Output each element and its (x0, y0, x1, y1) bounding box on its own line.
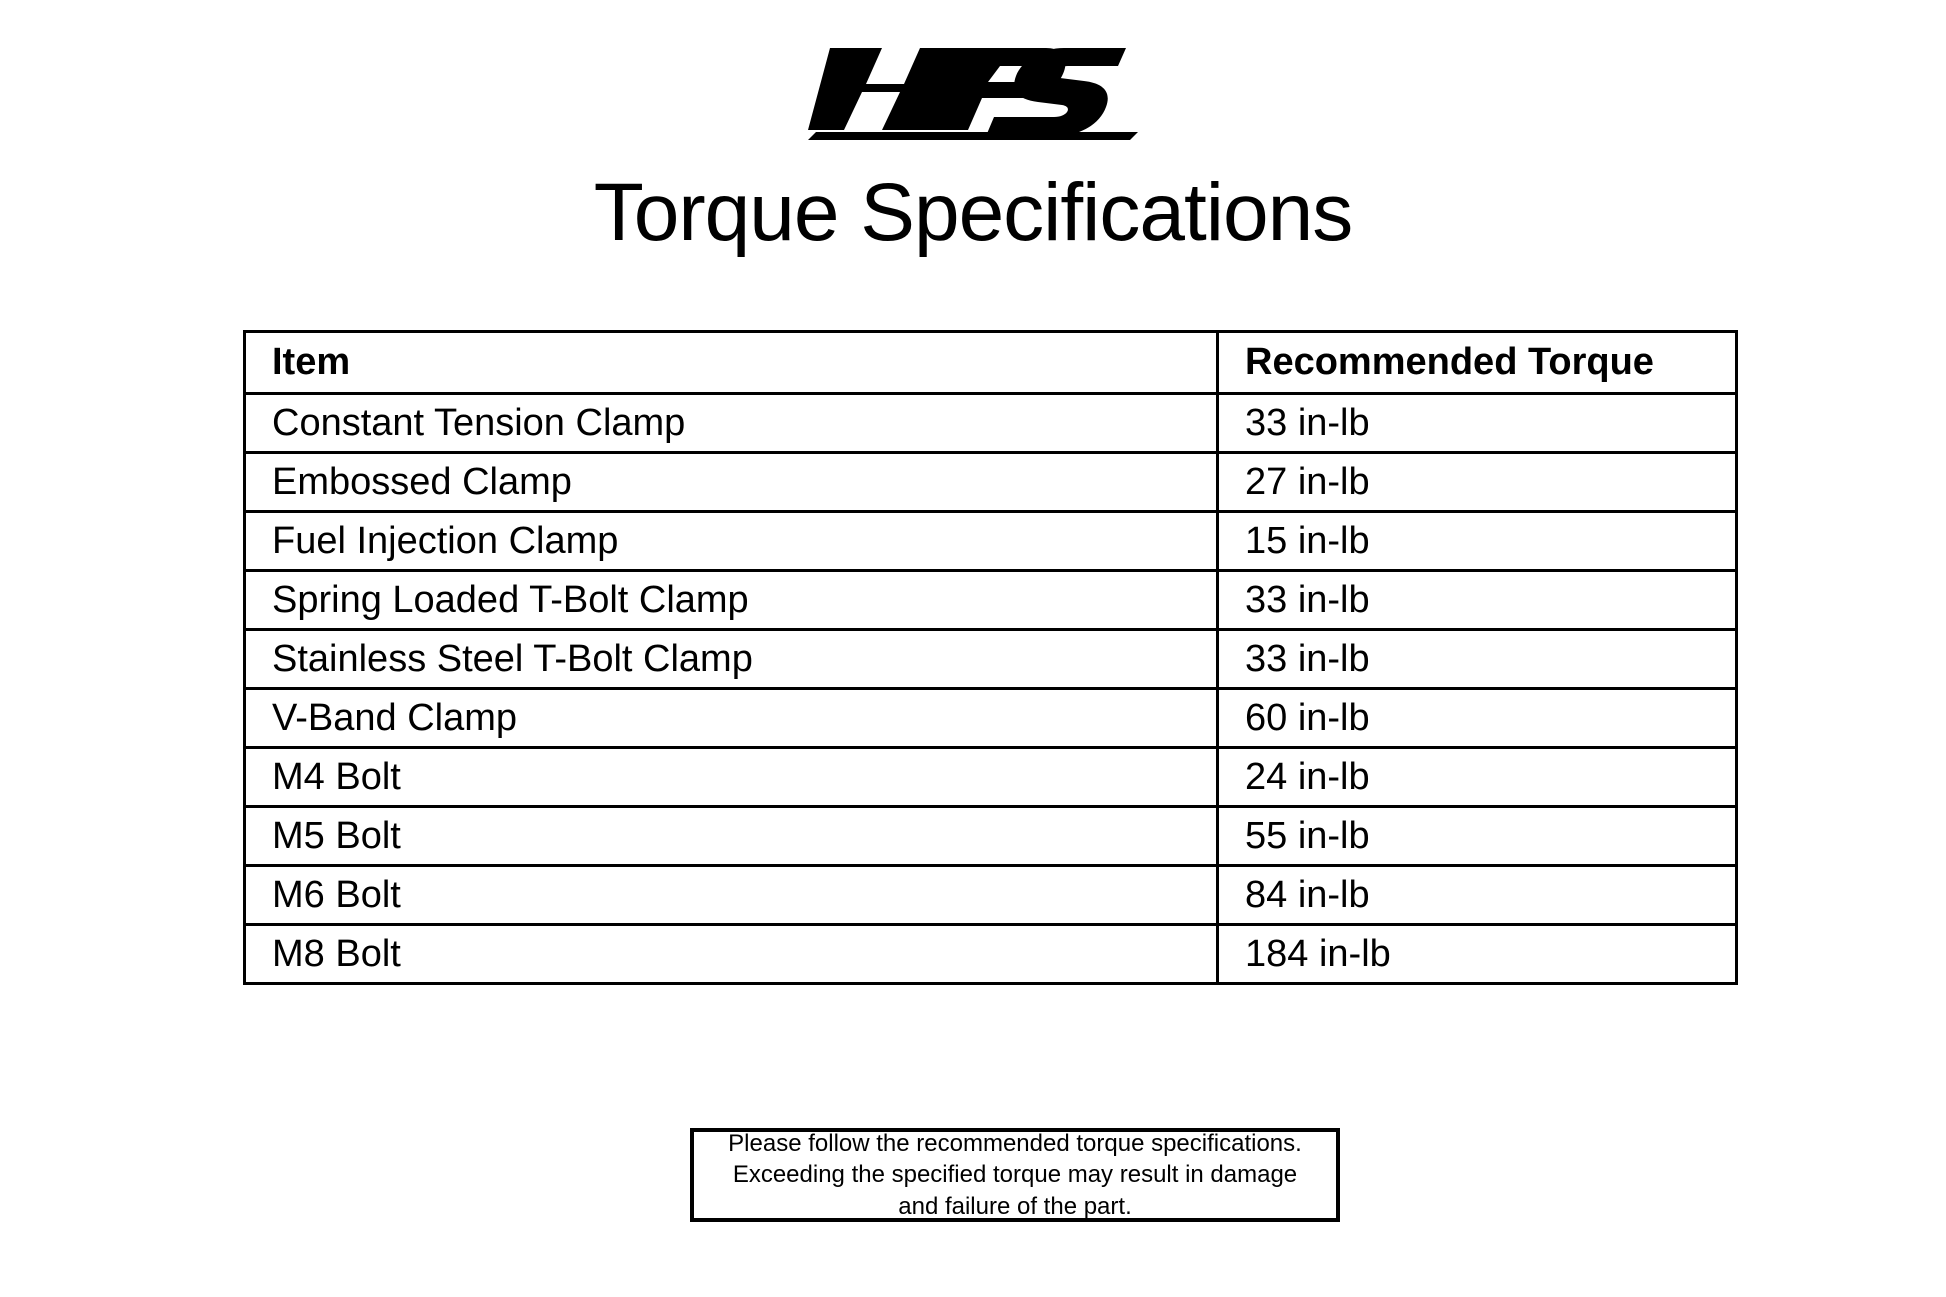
column-header-item: Item (245, 332, 1218, 394)
hps-logo-icon (808, 40, 1138, 140)
table-row: M8 Bolt184 in-lb (245, 925, 1737, 984)
cell-item: V-Band Clamp (245, 689, 1218, 748)
cell-torque: 15 in-lb (1218, 512, 1737, 571)
brand-logo (0, 40, 1946, 145)
cell-item: Spring Loaded T-Bolt Clamp (245, 571, 1218, 630)
table-row: M6 Bolt84 in-lb (245, 866, 1737, 925)
cell-torque: 27 in-lb (1218, 453, 1737, 512)
table-row: Spring Loaded T-Bolt Clamp33 in-lb (245, 571, 1737, 630)
table-row: V-Band Clamp60 in-lb (245, 689, 1737, 748)
note-line-1: Please follow the recommended torque spe… (728, 1128, 1302, 1160)
cell-torque: 60 in-lb (1218, 689, 1737, 748)
note-line-2: Exceeding the specified torque may resul… (733, 1159, 1297, 1191)
cell-item: M5 Bolt (245, 807, 1218, 866)
cell-item: Stainless Steel T-Bolt Clamp (245, 630, 1218, 689)
note-line-3: and failure of the part. (898, 1191, 1131, 1223)
cell-item: Constant Tension Clamp (245, 394, 1218, 453)
page-title: Torque Specifications (0, 172, 1946, 254)
warning-note-box: Please follow the recommended torque spe… (690, 1128, 1340, 1222)
cell-torque: 184 in-lb (1218, 925, 1737, 984)
cell-item: Embossed Clamp (245, 453, 1218, 512)
cell-item: M8 Bolt (245, 925, 1218, 984)
torque-specifications-table: Item Recommended Torque Constant Tension… (243, 330, 1735, 985)
table-row: Stainless Steel T-Bolt Clamp33 in-lb (245, 630, 1737, 689)
cell-torque: 55 in-lb (1218, 807, 1737, 866)
cell-item: M4 Bolt (245, 748, 1218, 807)
table-row: Constant Tension Clamp33 in-lb (245, 394, 1737, 453)
table-header-row: Item Recommended Torque (245, 332, 1737, 394)
column-header-torque: Recommended Torque (1218, 332, 1737, 394)
cell-item: M6 Bolt (245, 866, 1218, 925)
table-row: M5 Bolt55 in-lb (245, 807, 1737, 866)
table-row: Fuel Injection Clamp15 in-lb (245, 512, 1737, 571)
cell-torque: 33 in-lb (1218, 571, 1737, 630)
cell-torque: 33 in-lb (1218, 394, 1737, 453)
cell-torque: 24 in-lb (1218, 748, 1737, 807)
table-row: M4 Bolt24 in-lb (245, 748, 1737, 807)
cell-torque: 84 in-lb (1218, 866, 1737, 925)
cell-item: Fuel Injection Clamp (245, 512, 1218, 571)
table-row: Embossed Clamp27 in-lb (245, 453, 1737, 512)
cell-torque: 33 in-lb (1218, 630, 1737, 689)
